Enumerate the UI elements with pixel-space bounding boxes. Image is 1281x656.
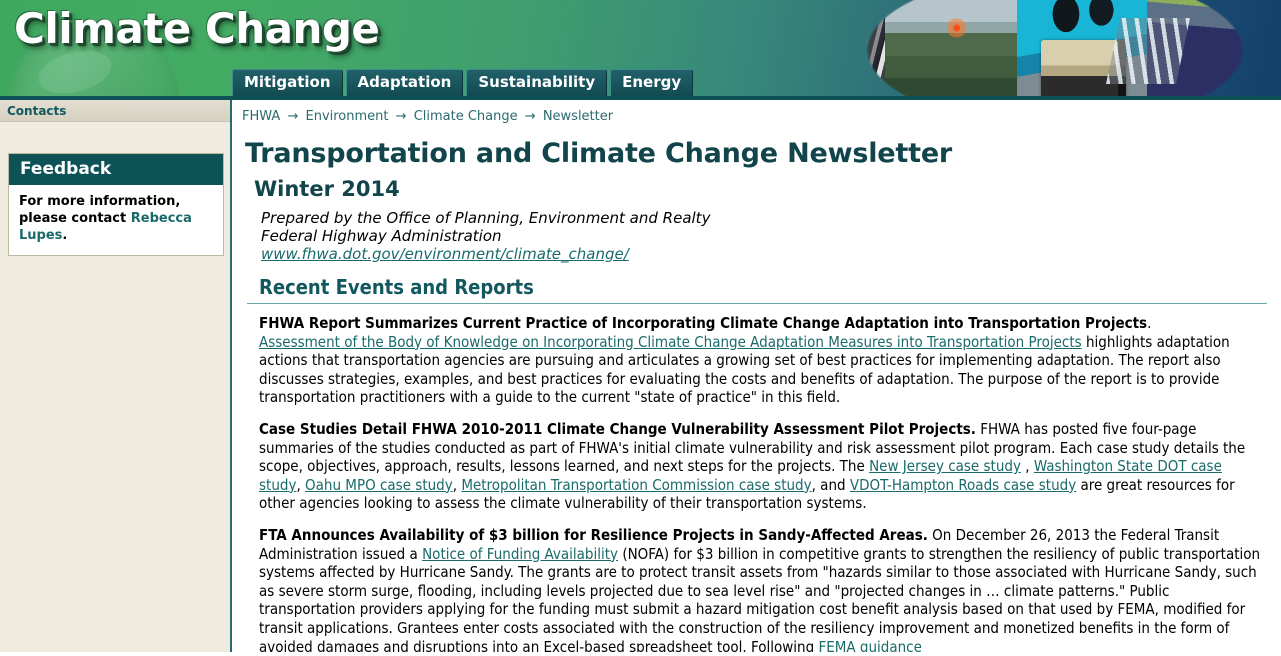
metropolitan-transportation-commission-case-study-link[interactable]: Metropolitan Transportation Commission c…	[461, 476, 811, 494]
prepared-by-block: Prepared by the Office of Planning, Envi…	[261, 209, 1267, 263]
fema-guidance-link[interactable]: FEMA guidance	[818, 638, 921, 653]
tab-sustainability[interactable]: Sustainability	[466, 69, 607, 96]
page-layout: Contacts Feedback For more information, …	[0, 100, 1281, 652]
article-headline: FTA Announces Availability of $3 billion…	[259, 526, 928, 544]
article-headline: FHWA Report Summarizes Current Practice …	[259, 314, 1147, 332]
article-body-2: ,	[1021, 457, 1034, 475]
tab-mitigation[interactable]: Mitigation	[232, 69, 343, 96]
prepared-by-agency: Federal Highway Administration	[261, 227, 1267, 245]
wetland-sunset-photo	[885, 0, 1023, 100]
feedback-header: Feedback	[9, 154, 223, 185]
breadcrumb-item-climate-change[interactable]: Climate Change	[414, 109, 518, 124]
banner-photo-collage	[765, 0, 1281, 100]
tab-energy[interactable]: Energy	[610, 69, 693, 96]
oahu-mpo-case-study-link[interactable]: Oahu MPO case study	[305, 476, 453, 494]
sidebar-item-contacts[interactable]: Contacts	[7, 104, 66, 118]
breadcrumb-arrow-icon: →	[525, 109, 536, 124]
article-headline: Case Studies Detail FHWA 2010-2011 Clima…	[259, 420, 976, 438]
breadcrumb-arrow-icon: →	[396, 109, 407, 124]
section-heading-recent-events: Recent Events and Reports	[259, 275, 1267, 299]
breadcrumb-arrow-icon: →	[287, 109, 298, 124]
article-body-5: , and	[812, 476, 850, 494]
left-sidebar: Contacts Feedback For more information, …	[0, 100, 232, 652]
banner-title: Climate Change	[14, 4, 379, 53]
tab-adaptation[interactable]: Adaptation	[346, 69, 464, 96]
article-fhwa-report: FHWA Report Summarizes Current Practice …	[259, 314, 1267, 407]
breadcrumb-item-environment[interactable]: Environment	[305, 109, 388, 124]
article-fta-resilience: FTA Announces Availability of $3 billion…	[259, 526, 1267, 652]
traffic-jam-photo	[765, 0, 890, 100]
primary-nav-tabs: Mitigation Adaptation Sustainability Ene…	[232, 69, 693, 96]
breadcrumb-item-newsletter[interactable]: Newsletter	[543, 109, 613, 124]
main-content: FHWA → Environment → Climate Change → Ne…	[232, 100, 1281, 652]
notice-of-funding-availability-link[interactable]: Notice of Funding Availability	[422, 545, 618, 563]
site-banner: Climate Change Mitigation Adaptation Sus…	[0, 0, 1281, 100]
article-headline-suffix: .	[1147, 314, 1151, 332]
assessment-body-of-knowledge-link[interactable]: Assessment of the Body of Knowledge on I…	[259, 333, 1082, 351]
prepared-by-office: Prepared by the Office of Planning, Envi…	[261, 209, 1267, 227]
feedback-text-after: .	[62, 228, 67, 243]
article-case-studies: Case Studies Detail FHWA 2010-2011 Clima…	[259, 420, 1267, 513]
breadcrumb-item-fhwa[interactable]: FHWA	[242, 109, 280, 124]
new-jersey-case-study-link[interactable]: New Jersey case study	[869, 457, 1021, 475]
page-root: Climate Change Mitigation Adaptation Sus…	[0, 0, 1281, 656]
issue-title: Winter 2014	[254, 177, 1267, 201]
feedback-box: Feedback For more information, please co…	[8, 153, 224, 256]
contacts-bar: Contacts	[0, 100, 230, 122]
article-body-3: ,	[296, 476, 305, 494]
page-title: Transportation and Climate Change Newsle…	[245, 138, 1267, 169]
breadcrumb: FHWA → Environment → Climate Change → Ne…	[242, 109, 1267, 124]
section-divider	[247, 303, 1267, 304]
feedback-body: For more information, please contact Reb…	[9, 185, 223, 255]
vdot-hampton-roads-case-study-link[interactable]: VDOT-Hampton Roads case study	[850, 476, 1076, 494]
fhwa-climate-change-url-link[interactable]: www.fhwa.dot.gov/environment/climate_cha…	[261, 245, 629, 263]
solar-panel-photo	[1147, 0, 1281, 100]
